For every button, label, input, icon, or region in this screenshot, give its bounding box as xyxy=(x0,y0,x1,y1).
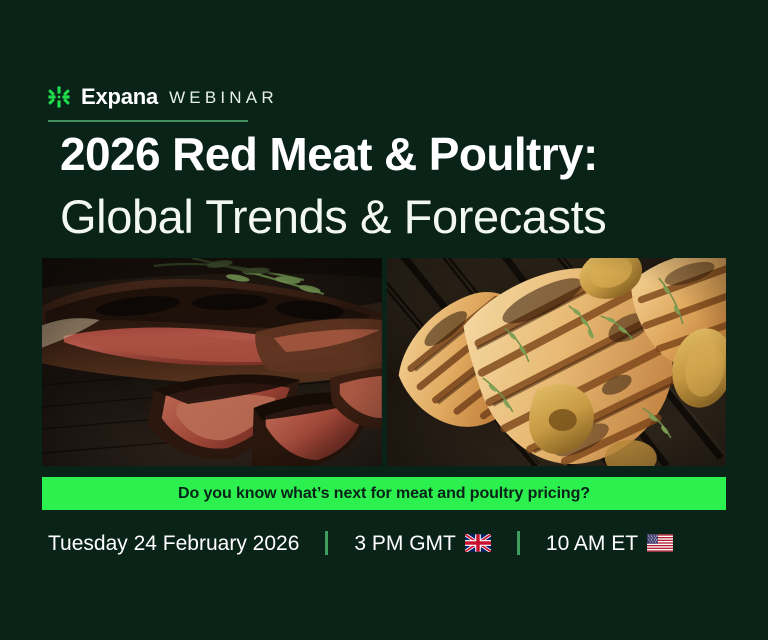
brand-divider-rule xyxy=(48,120,248,122)
photo-band xyxy=(42,258,726,466)
brand-name: Expana xyxy=(81,86,158,108)
event-date: Tuesday 24 February 2026 xyxy=(48,533,299,554)
uk-flag-icon xyxy=(465,534,491,552)
event-time-uk-group: 3 PM GMT xyxy=(354,533,491,554)
event-time-us: 10 AM ET xyxy=(546,533,638,554)
expana-asterisk-icon xyxy=(48,86,70,108)
event-time-us-group: 10 AM ET xyxy=(546,533,673,554)
event-details-footer: Tuesday 24 February 2026 3 PM GMT 10 AM … xyxy=(48,526,738,560)
headline-line-1: 2026 Red Meat & Poultry: xyxy=(60,131,760,177)
us-flag-icon xyxy=(647,534,673,552)
brand-lockup: Expana WEBINAR xyxy=(48,86,278,108)
headline-block: 2026 Red Meat & Poultry: Global Trends &… xyxy=(60,131,760,240)
webinar-promo-poster: Expana WEBINAR 2026 Red Meat & Poultry: … xyxy=(0,0,768,640)
cta-banner: Do you know what’s next for meat and pou… xyxy=(42,477,726,510)
footer-divider-1 xyxy=(325,531,328,555)
event-time-uk: 3 PM GMT xyxy=(354,533,456,554)
footer-divider-2 xyxy=(517,531,520,555)
grilled-steak-photo xyxy=(42,258,382,466)
brand-kicker: WEBINAR xyxy=(169,89,278,106)
grilled-chicken-photo xyxy=(387,258,727,466)
cta-banner-text: Do you know what’s next for meat and pou… xyxy=(178,486,590,502)
headline-line-2: Global Trends & Forecasts xyxy=(60,193,760,240)
